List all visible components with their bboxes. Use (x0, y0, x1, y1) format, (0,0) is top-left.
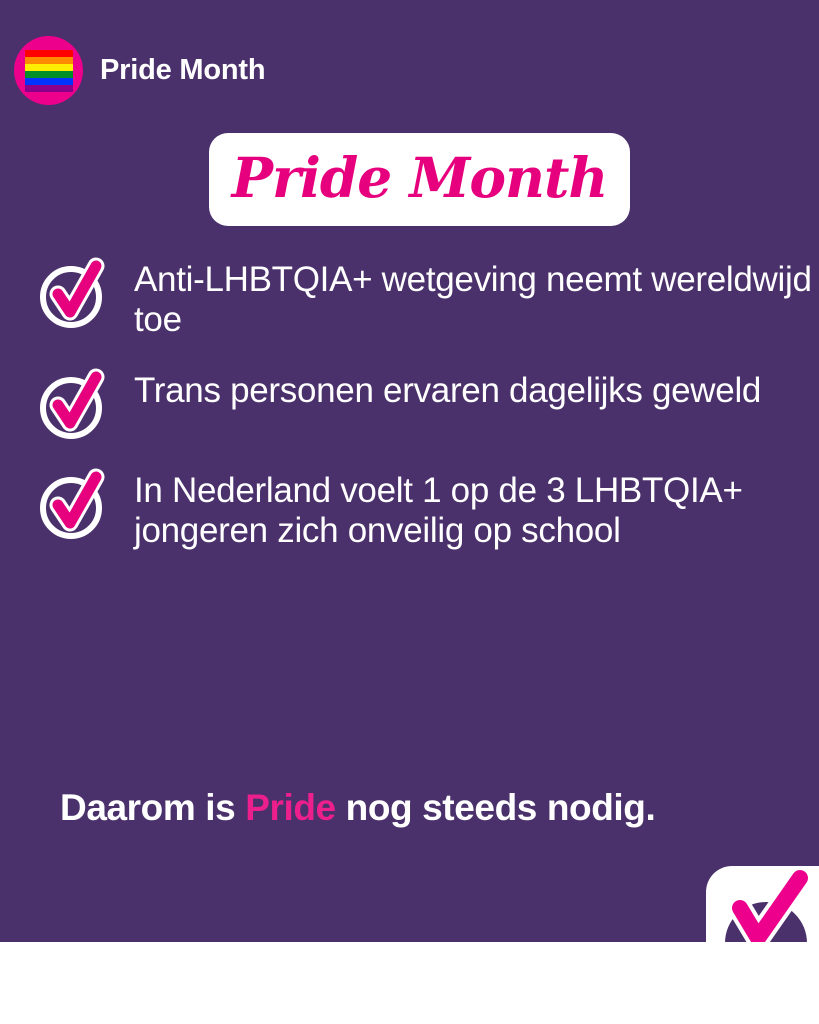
title-badge-text: Pride Month (232, 150, 608, 205)
closing-statement: Daarom is Pride nog steeds nodig. (60, 788, 655, 829)
check-circle-icon (38, 260, 108, 330)
flag-stripe-yellow (25, 64, 73, 71)
list-item: Anti-LHBTQIA+ wetgeving neemt wereldwijd… (38, 258, 813, 341)
closing-text-after: nog steeds nodig. (336, 787, 656, 828)
pride-month-poster: Pride Month Pride Month Anti-LHBTQIA+ we… (0, 0, 819, 1024)
title-badge: Pride Month (209, 133, 630, 226)
poster-header: Pride Month (14, 36, 265, 105)
flag-stripe-blue (25, 78, 73, 85)
flag-stripe-violet (25, 85, 73, 92)
flag-stripe-green (25, 71, 73, 78)
flag-stripe-red (25, 50, 73, 57)
list-item-text: Trans personen ervaren dagelijks geweld (134, 369, 761, 411)
header-title: Pride Month (100, 56, 265, 85)
bottom-white-strip (0, 942, 819, 1024)
rainbow-flag-icon (14, 36, 83, 105)
check-circle-icon (38, 371, 108, 441)
list-item-text: Anti-LHBTQIA+ wetgeving neemt wereldwijd… (134, 258, 813, 341)
closing-highlight-pride: Pride (245, 787, 336, 828)
list-item-text: In Nederland voelt 1 op de 3 LHBTQIA+ jo… (134, 469, 813, 552)
closing-text-before: Daarom is (60, 787, 245, 828)
bullet-list: Anti-LHBTQIA+ wetgeving neemt wereldwijd… (38, 258, 813, 579)
check-circle-icon (38, 471, 108, 541)
list-item: In Nederland voelt 1 op de 3 LHBTQIA+ jo… (38, 469, 813, 552)
flag-stripe-orange (25, 57, 73, 64)
list-item: Trans personen ervaren dagelijks geweld (38, 369, 813, 441)
rainbow-flag-stripes (25, 50, 73, 92)
